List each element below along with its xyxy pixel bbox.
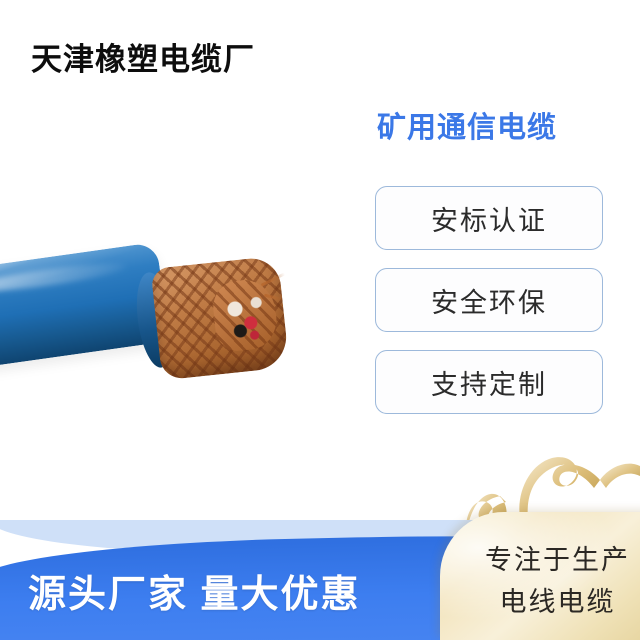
feature-list: 安标认证 安全环保 支持定制 xyxy=(375,186,603,414)
feature-label: 安标认证 xyxy=(431,199,547,238)
poster-canvas: 天津橡塑电缆厂 矿用通信电缆 安标认证 安全环保 支持定制 xyxy=(0,0,640,640)
focus-tag-line-1: 专注于生产 xyxy=(470,538,640,577)
feature-box-eco-safety[interactable]: 安全环保 xyxy=(375,268,603,332)
feature-box-customization[interactable]: 支持定制 xyxy=(375,350,603,414)
feature-label: 支持定制 xyxy=(431,363,547,402)
product-headline: 矿用通信电缆 xyxy=(377,104,557,146)
brand-name: 天津橡塑电缆厂 xyxy=(31,34,255,79)
cable-product-image xyxy=(0,250,300,390)
feature-label: 安全环保 xyxy=(431,281,547,320)
banner-slogan: 源头厂家 量大优惠 xyxy=(28,563,378,618)
feature-box-certification[interactable]: 安标认证 xyxy=(375,186,603,250)
focus-tag-line-2: 电线电缆 xyxy=(470,580,640,619)
